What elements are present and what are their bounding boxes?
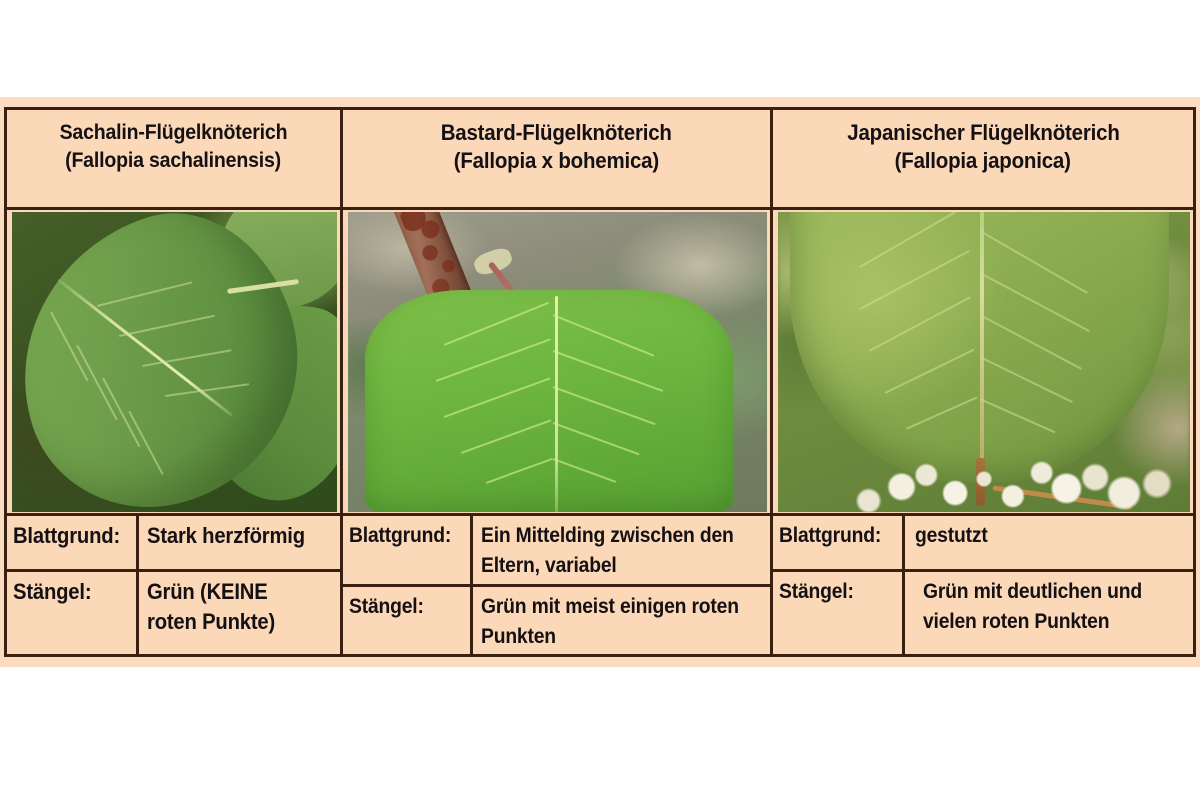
fact-value-cell: Grün mit meist einigen roten Punkten [473, 587, 770, 655]
fact-row-staengel: Stängel: Grün mit deutlichen und vielen … [773, 572, 1193, 655]
fact-value-cell: gestutzt [905, 516, 1193, 569]
species-photo-cell-sachalinensis [7, 210, 340, 516]
fact-value-cell: Grün (KEINE roten Punkte) [139, 572, 340, 655]
fact-row-staengel: Stängel: Grün mit meist einigen roten Pu… [343, 587, 770, 655]
fact-label-text: Blattgrund: [349, 521, 451, 551]
bastard-leaf-photo [348, 212, 767, 512]
species-column-bohemica: Bastard-Flügelknöterich (Fallopia x bohe… [343, 110, 773, 654]
fact-row-blattgrund: Blattgrund: Ein Mittelding zwischen den … [343, 516, 770, 587]
fact-row-blattgrund: Blattgrund: Stark herzförmig [7, 516, 340, 572]
fact-label-text: Stängel: [349, 592, 424, 622]
fact-row-blattgrund: Blattgrund: gestutzt [773, 516, 1193, 572]
species-common-name: Bastard-Flügelknöterich [441, 119, 672, 147]
fact-value-text: Grün mit meist einigen roten Punkten [481, 592, 743, 652]
species-header-japonica: Japanischer Flügelknöterich (Fallopia ja… [773, 110, 1193, 210]
fact-label-text: Stängel: [779, 577, 854, 607]
fact-label-cell: Blattgrund: [773, 516, 905, 569]
species-latin-name: (Fallopia japonica) [895, 147, 1071, 175]
species-column-sachalinensis: Sachalin-Flügelknöterich (Fallopia sacha… [7, 110, 343, 654]
species-photo-cell-bohemica [343, 210, 770, 516]
species-column-japonica: Japanischer Flügelknöterich (Fallopia ja… [773, 110, 1193, 654]
species-photo-cell-japonica [773, 210, 1193, 516]
fact-label-text: Blattgrund: [779, 521, 881, 551]
species-latin-name: (Fallopia sachalinensis) [66, 147, 282, 175]
sachalin-leaf-photo [12, 212, 337, 512]
species-header-bohemica: Bastard-Flügelknöterich (Fallopia x bohe… [343, 110, 770, 210]
fact-label-cell: Blattgrund: [7, 516, 139, 569]
fact-label-cell: Stängel: [343, 587, 473, 655]
fact-row-staengel: Stängel: Grün (KEINE roten Punkte) [7, 572, 340, 655]
fact-value-cell: Stark herzförmig [139, 516, 340, 569]
fact-value-cell: Ein Mittelding zwischen den Eltern, vari… [473, 516, 770, 584]
fact-value-text: Grün mit deutlichen und vielen roten Pun… [923, 577, 1168, 637]
species-common-name: Sachalin-Flügelknöterich [60, 119, 288, 147]
fact-value-cell: Grün mit deutlichen und vielen roten Pun… [905, 572, 1193, 655]
knotweed-comparison-table: Sachalin-Flügelknöterich (Fallopia sacha… [4, 107, 1196, 657]
leaf-midrib [555, 296, 558, 512]
fact-value-text: Stark herzförmig [147, 521, 305, 551]
fact-label-cell: Stängel: [773, 572, 905, 655]
fact-value-text: Ein Mittelding zwischen den Eltern, vari… [481, 521, 743, 581]
fact-value-text: Grün (KEINE roten Punkte) [147, 577, 321, 637]
species-common-name: Japanischer Flügelknöterich [847, 119, 1119, 147]
species-latin-name: (Fallopia x bohemica) [454, 147, 659, 175]
leaf-midrib [980, 212, 984, 464]
species-header-sachalinensis: Sachalin-Flügelknöterich (Fallopia sacha… [7, 110, 340, 210]
white-flower-cluster [778, 440, 1190, 512]
fact-label-cell: Blattgrund: [343, 516, 473, 584]
japonica-leaf-photo [778, 212, 1190, 512]
fact-value-text: gestutzt [915, 521, 988, 551]
fact-label-cell: Stängel: [7, 572, 139, 655]
leaf-main-shape [365, 290, 734, 512]
fact-label-text: Blattgrund: [13, 521, 120, 551]
fact-label-text: Stängel: [13, 577, 91, 607]
